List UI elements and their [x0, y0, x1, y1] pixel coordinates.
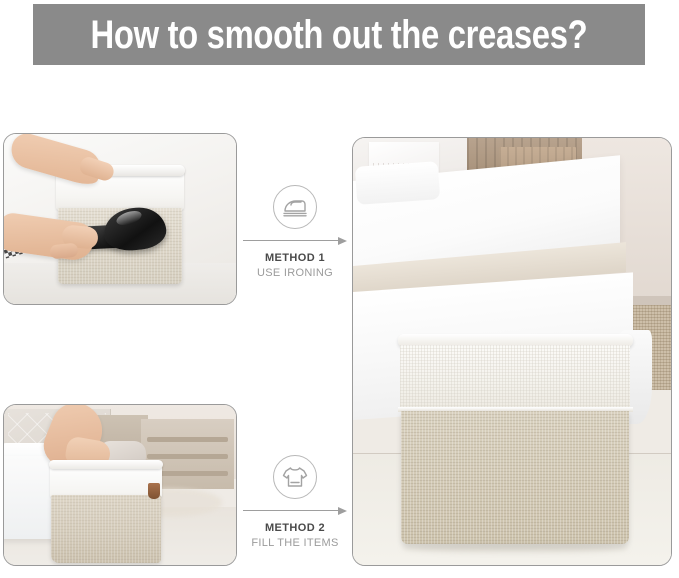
basket-rim: [49, 460, 163, 469]
basket-white-upper: [400, 345, 631, 409]
dresser-drawer-line-1: [147, 437, 229, 442]
panel-result-photo: [352, 137, 672, 566]
dresser-drawer-line-2: [147, 454, 229, 459]
method-title: METHOD 1: [241, 251, 349, 266]
page-title: How to smooth out the creases?: [91, 15, 588, 55]
arrow-right-icon: [243, 236, 347, 246]
tshirt-icon: [273, 455, 317, 499]
result-scene: [353, 138, 671, 565]
filling-scene: [4, 405, 236, 565]
header-banner: How to smooth out the creases?: [33, 4, 645, 65]
basket-linen-lower: [401, 411, 629, 543]
basket-shadow: [402, 544, 628, 553]
method-subtitle: USE IRONING: [241, 266, 349, 281]
ironing-scene: [4, 134, 236, 304]
method-block-2: METHOD 2 FILL THE ITEMS: [241, 455, 349, 551]
leather-tag: [148, 483, 160, 499]
method-title: METHOD 2: [241, 521, 349, 536]
method-subtitle: FILL THE ITEMS: [241, 536, 349, 551]
storage-basket: [398, 334, 633, 548]
arrow-head: [338, 237, 347, 245]
bed-pillow: [355, 161, 440, 205]
arrow-head: [338, 507, 347, 515]
panel-filling-photo: [3, 404, 237, 566]
panel-ironing-photo: [3, 133, 237, 305]
iron-icon: [273, 185, 317, 229]
arrow-shaft: [243, 240, 339, 241]
arrow-right-icon: [243, 506, 347, 516]
method-block-1: METHOD 1 USE IRONING: [241, 185, 349, 281]
storage-basket: [50, 463, 162, 561]
infographic-root: How to smooth out the creases?: [0, 0, 679, 578]
arrow-shaft: [243, 510, 339, 511]
basket-linen-lower: [51, 495, 161, 563]
